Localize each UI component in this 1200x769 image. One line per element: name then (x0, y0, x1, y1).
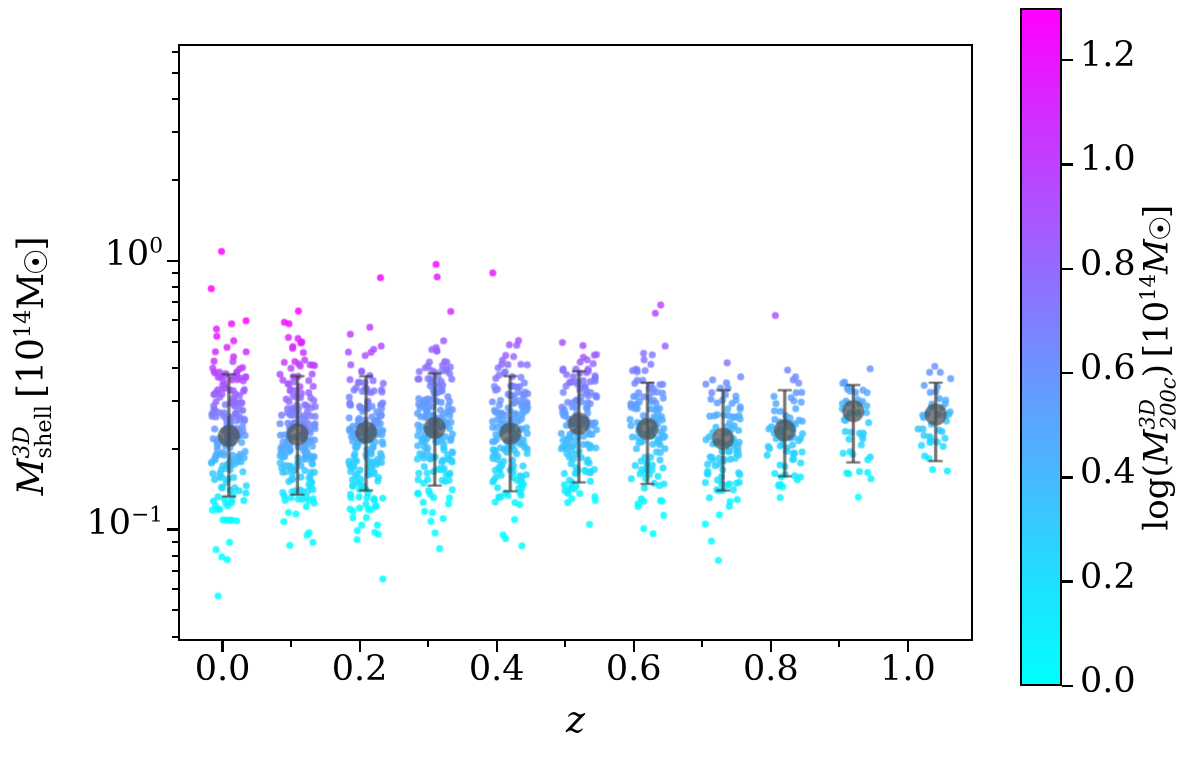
colorbar-label-unit-mass: M (1136, 239, 1176, 274)
y-tick-minor-9 (172, 341, 178, 343)
colorbar-tick-6 (1062, 59, 1073, 61)
y-tick-minor-16 (172, 98, 178, 100)
y-tick-minor-0 (172, 636, 178, 638)
y-axis-label-unit-mass: M (11, 273, 52, 310)
x-tick-minor-1 (427, 641, 429, 647)
plot-axes-frame (178, 44, 973, 641)
colorbar-tick-5 (1062, 163, 1073, 165)
y-tick-major-1 (167, 528, 178, 530)
colorbar-tick-3 (1062, 372, 1073, 374)
y-tick-minor-3 (172, 570, 178, 572)
colorbar-tick-2 (1062, 476, 1073, 478)
colorbar-label-log: log( (1136, 464, 1176, 530)
solar-mass-icon (1150, 218, 1171, 239)
colorbar-label-supsub: 3D200c (1136, 377, 1179, 429)
y-tick-minor-10 (172, 319, 178, 321)
y-tick-minor-18 (172, 51, 178, 53)
figure-container: 0.00.20.40.60.81.0 10010−1 z M3Dshell [1… (0, 0, 1200, 769)
x-tick-label-0: 0.0 (163, 652, 283, 687)
x-tick-label-3: 0.6 (574, 652, 694, 687)
y-tick-minor-14 (172, 179, 178, 181)
colorbar-label-unit-exponent: 14 (1135, 274, 1160, 301)
colorbar-tick-label-0: 0.0 (1080, 664, 1136, 699)
colorbar-label-unit-mantissa: 10 (1136, 301, 1176, 344)
colorbar-label-symbol: M (1136, 429, 1176, 464)
y-axis-label-bracket-open: [ (11, 384, 52, 398)
x-tick-minor-2 (564, 641, 566, 647)
y-tick-mantissa: 10 (105, 234, 150, 274)
y-tick-minor-6 (172, 448, 178, 450)
y-tick-minor-15 (172, 131, 178, 133)
y-tick-exponent: −1 (131, 502, 163, 527)
y-tick-minor-8 (172, 367, 178, 369)
x-tick-label-1: 0.2 (300, 652, 420, 687)
y-axis-label-bracket-close: ] (11, 236, 52, 250)
y-tick-minor-5 (172, 541, 178, 543)
colorbar-tick-label-6: 1.2 (1080, 38, 1136, 73)
colorbar-tick-label-4: 0.8 (1080, 247, 1136, 282)
x-tick-minor-3 (701, 641, 703, 647)
colorbar-tick-label-2: 0.4 (1080, 455, 1136, 490)
x-tick-label-2: 0.4 (437, 652, 557, 687)
colorbar-tick-1 (1062, 580, 1073, 582)
y-axis-label-supsub: 3Dshell (11, 405, 57, 458)
colorbar-tick-label-5: 1.0 (1080, 142, 1136, 177)
y-tick-major-0 (167, 260, 178, 262)
y-axis-label: M3Dshell [1014M] (11, 66, 57, 666)
x-axis-label: z (178, 700, 973, 741)
colorbar-label-bracket-open: [ (1136, 344, 1176, 357)
colorbar-label: log(M3D200c) [1014M] (1136, 48, 1179, 688)
y-tick-minor-1 (172, 609, 178, 611)
y-tick-minor-17 (172, 72, 178, 74)
scatter-plot-canvas (180, 46, 971, 639)
x-tick-minor-4 (838, 641, 840, 647)
x-tick-minor-0 (290, 641, 292, 647)
x-tick-label-4: 0.8 (711, 652, 831, 687)
y-tick-minor-13 (172, 272, 178, 274)
colorbar-label-bracket-close: ] (1136, 205, 1176, 218)
colorbar (1020, 8, 1062, 686)
x-tick-label-5: 1.0 (848, 652, 968, 687)
colorbar-label-close-paren: ) (1136, 364, 1176, 377)
y-axis-label-unit-mantissa: 10 (11, 338, 52, 384)
colorbar-tick-0 (1062, 685, 1073, 687)
x-axis-label-text: z (566, 700, 585, 741)
y-tick-minor-4 (172, 555, 178, 557)
solar-mass-icon (24, 250, 46, 272)
y-axis-label-unit-exponent: 14 (10, 310, 36, 338)
colorbar-tick-label-3: 0.6 (1080, 351, 1136, 386)
y-tick-exponent: 0 (149, 233, 163, 258)
y-tick-minor-2 (172, 588, 178, 590)
y-axis-label-symbol: M (11, 458, 52, 495)
y-tick-mantissa: 10 (86, 503, 131, 543)
y-tick-minor-11 (172, 301, 178, 303)
colorbar-tick-label-1: 0.2 (1080, 560, 1136, 595)
y-tick-label-1: 10−1 (86, 506, 163, 541)
y-tick-minor-7 (172, 400, 178, 402)
y-tick-minor-12 (172, 286, 178, 288)
y-tick-label-0: 100 (105, 237, 163, 272)
colorbar-tick-4 (1062, 268, 1073, 270)
colorbar-gradient (1022, 10, 1060, 684)
